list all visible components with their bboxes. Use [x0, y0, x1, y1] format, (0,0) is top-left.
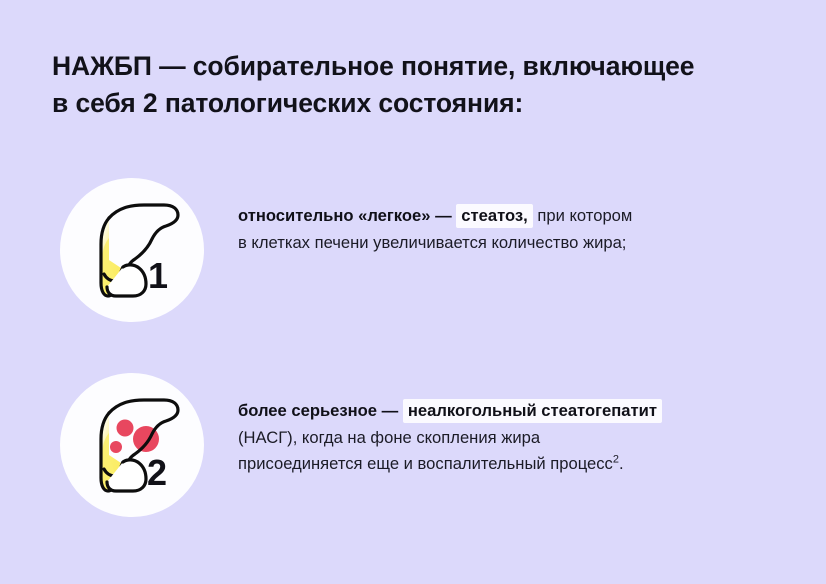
item-2-description: более серьезное — неалкогольный стеатоге… [238, 398, 783, 478]
item-number-1: 1 [148, 258, 168, 294]
item-1-description: относительно «легкое» — стеатоз, при кот… [238, 203, 783, 256]
liver-steatosis-icon [60, 178, 204, 322]
infographic-canvas: НАЖБП — собирательное понятие, включающе… [0, 0, 826, 584]
item-2-line-3: присоединяется еще и воспалительный проц… [238, 451, 783, 478]
page-title-line-1: НАЖБП — собирательное понятие, включающе… [52, 48, 782, 85]
item-2-line-3-post: . [619, 454, 624, 473]
item-1-line-2: в клетках печени увеличивается количеств… [238, 230, 783, 257]
item-2-lead: более серьезное — [238, 401, 403, 420]
liver-steatohepatitis-badge [60, 373, 204, 517]
page-title-line-2: в себя 2 патологических состояния: [52, 85, 782, 122]
item-2-line-2: (НАСГ), когда на фоне скопления жира [238, 425, 783, 452]
item-1-lead: относительно «легкое» — [238, 206, 456, 225]
item-2-line-3-pre: присоединяется еще и воспалительный проц… [238, 454, 613, 473]
item-2-highlight: неалкогольный стеатогепатит [403, 399, 662, 423]
item-1-highlight: стеатоз, [456, 204, 533, 228]
item-2-line-1: более серьезное — неалкогольный стеатоге… [238, 398, 783, 425]
item-1-after: при котором [533, 206, 633, 225]
liver-steatohepatitis-icon [60, 373, 204, 517]
inflammation-dot [117, 420, 134, 437]
item-1-line-1: относительно «легкое» — стеатоз, при кот… [238, 203, 783, 230]
liver-steatosis-badge [60, 178, 204, 322]
item-number-2: 2 [147, 455, 167, 491]
inflammation-dot [110, 441, 122, 453]
page-title: НАЖБП — собирательное понятие, включающе… [52, 48, 782, 122]
